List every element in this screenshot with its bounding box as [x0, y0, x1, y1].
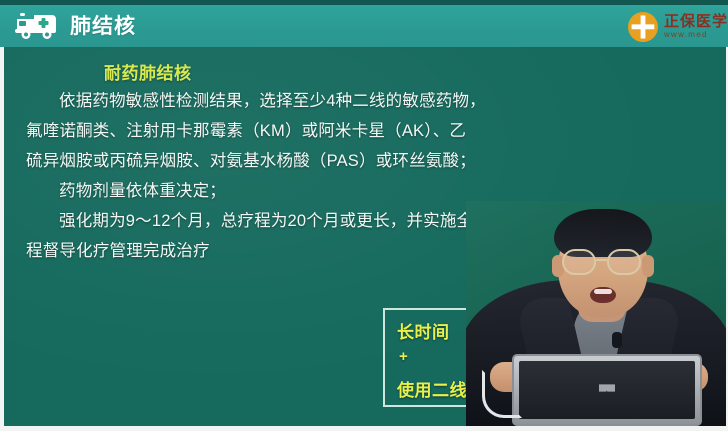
- glasses-lens-right-icon: [607, 249, 641, 275]
- lecture-title: 耐药肺结核: [104, 59, 192, 84]
- brand-logo: 正保医学 www.med: [627, 7, 728, 47]
- brand-url: www.med: [664, 30, 728, 40]
- presenter-video: [466, 201, 728, 426]
- slide-screenshot: 肺结核 正保医学 www.med 耐药肺结核 依据药物敏感性检测结果，选择至少4…: [0, 0, 728, 431]
- cross-circle-logo-icon: [627, 11, 659, 43]
- presenter-mouth: [590, 287, 616, 303]
- slide-paragraph: 依据药物敏感性检测结果，选择至少4种二线的敏感药物，: [26, 86, 586, 116]
- brand-name: 正保医学: [664, 14, 728, 30]
- slide-paragraph: 硫异烟胺或丙硫异烟胺、对氨基水杨酸（PAS）或环丝氨酸；: [26, 146, 586, 176]
- header-title: 肺结核: [70, 16, 136, 37]
- tablet-screen: [519, 361, 695, 419]
- page-edge-left: [0, 47, 4, 431]
- page-edge-bottom: [0, 426, 728, 431]
- brand-text-group: 正保医学 www.med: [664, 14, 728, 39]
- tablet-logo-icon: [599, 384, 615, 400]
- presenter-ear-right: [642, 255, 654, 277]
- glasses-bridge-icon: [596, 259, 607, 261]
- annotation-plus-sign: +: [399, 348, 408, 365]
- slide-content: 耐药肺结核 依据药物敏感性检测结果，选择至少4种二线的敏感药物， 氟喹诺酮类、注…: [0, 47, 728, 426]
- header-left-group: 肺结核: [14, 5, 136, 47]
- lapel-microphone-icon: [612, 332, 622, 348]
- annotation-line-1: 长时间: [397, 318, 450, 343]
- slide-paragraph: 氟喹诺酮类、注射用卡那霉素（KM）或阿米卡星（AK）、乙: [26, 116, 586, 146]
- ambulance-icon: [14, 11, 60, 41]
- tablet-device: [512, 354, 702, 426]
- glasses-lens-left-icon: [562, 249, 596, 275]
- tablet-cable: [482, 370, 522, 418]
- header-bar: 肺结核 正保医学 www.med: [0, 5, 728, 47]
